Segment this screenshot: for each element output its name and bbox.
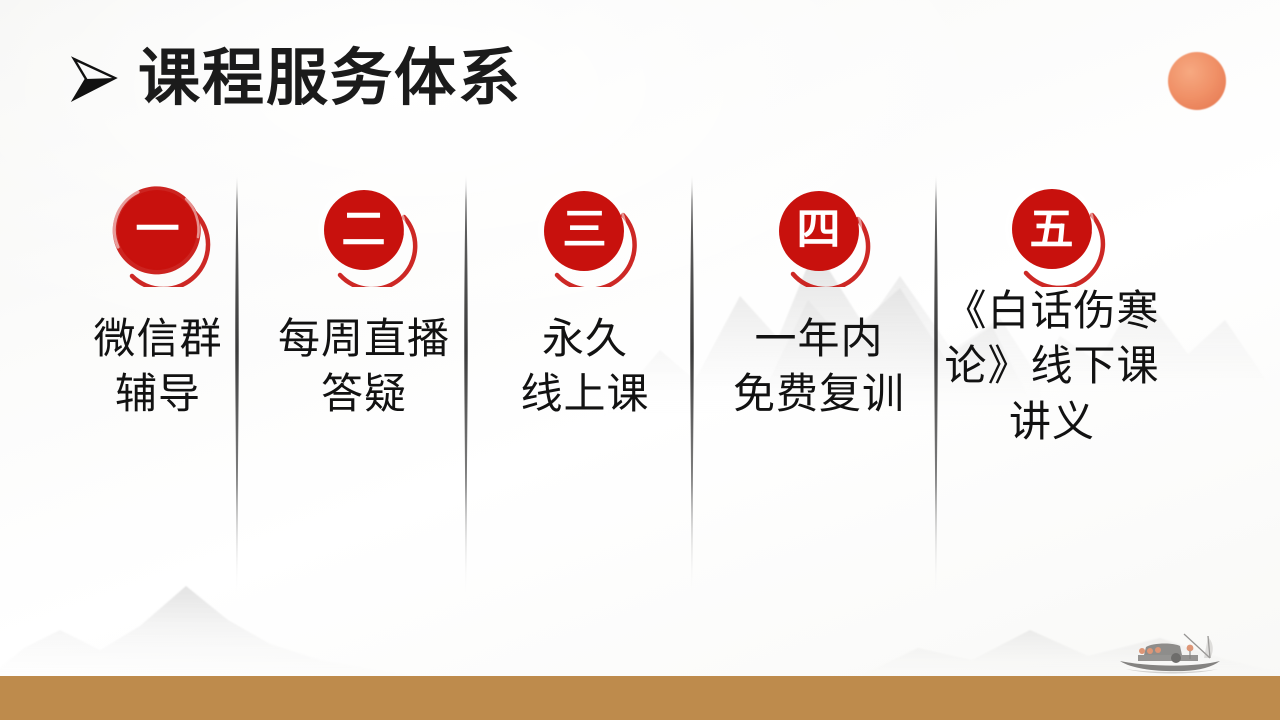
service-item-1[interactable]: 一 微信群辅导	[54, 175, 262, 424]
service-number: 二	[308, 175, 420, 287]
brush-circle-icon: 四	[763, 175, 875, 287]
service-columns: 一 微信群辅导 二 每周直播答疑	[0, 175, 1280, 595]
brush-circle-icon: 一	[102, 175, 214, 287]
service-label: 每周直播答疑	[260, 313, 468, 424]
service-item-2[interactable]: 二 每周直播答疑	[260, 175, 468, 424]
ink-boat-icon	[1112, 625, 1232, 677]
page-title-row: 课程服务体系	[68, 48, 522, 110]
brush-circle-icon: 二	[308, 175, 420, 287]
brush-circle-icon: 三	[529, 175, 641, 287]
service-label: 一年内免费复训	[704, 313, 934, 424]
footer-accent-bar	[0, 676, 1280, 720]
service-label: 微信群辅导	[54, 313, 262, 424]
service-item-3[interactable]: 三 永久线上课	[480, 175, 690, 424]
service-item-5[interactable]: 五 《白话伤寒论》线下课讲义	[930, 175, 1174, 451]
service-label: 永久线上课	[480, 313, 690, 424]
service-item-4[interactable]: 四 一年内免费复训	[704, 175, 934, 424]
ink-mountains-bottom-right-icon	[860, 586, 1280, 676]
service-number: 五	[996, 175, 1108, 287]
service-number: 一	[102, 175, 214, 287]
service-label: 《白话伤寒论》线下课讲义	[930, 285, 1174, 451]
brush-circle-icon: 五	[996, 175, 1108, 287]
sun-circle-icon	[1168, 52, 1226, 110]
arrowhead-bullet-icon	[68, 53, 120, 105]
service-number: 四	[763, 175, 875, 287]
slide-canvas: 课程服务体系	[0, 0, 1280, 720]
page-title: 课程服务体系	[138, 48, 522, 110]
service-number: 三	[529, 175, 641, 287]
